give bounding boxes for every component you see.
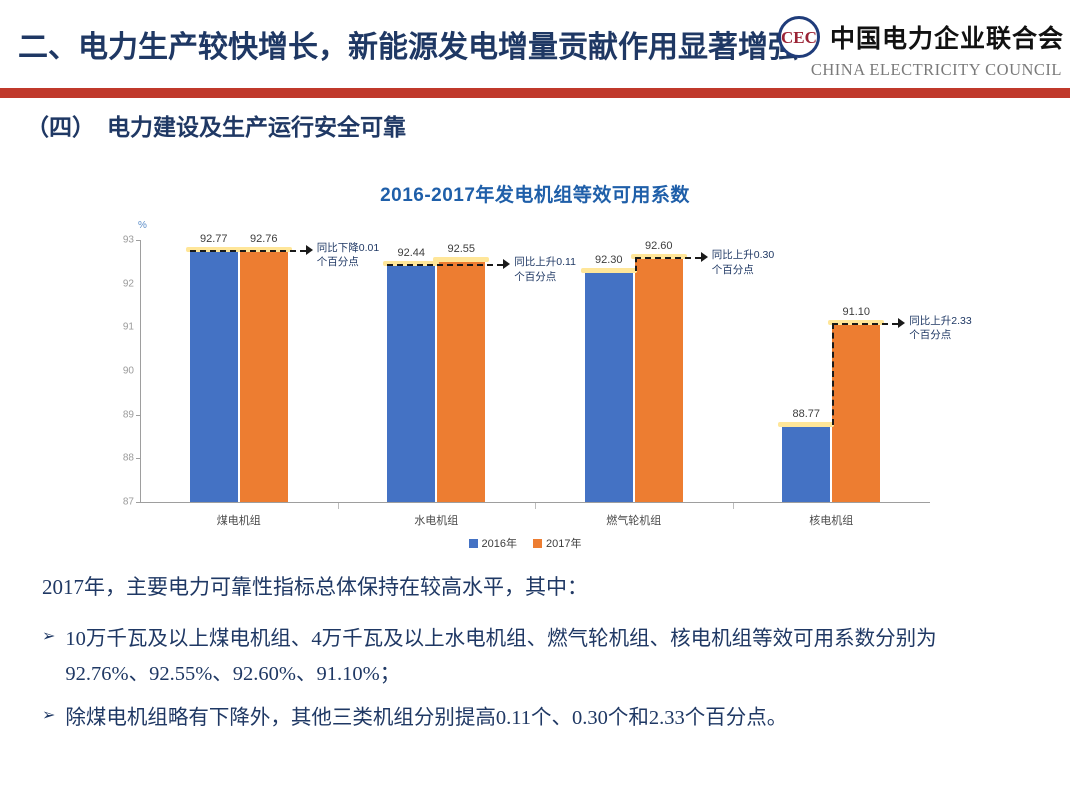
section-heading: （四）电力建设及生产运行安全可靠: [26, 108, 406, 142]
bar-top-highlight: [778, 422, 834, 427]
annotation-riser: [832, 323, 834, 425]
bar-value-label: 91.10: [842, 306, 870, 318]
category-label: 煤电机组: [217, 512, 261, 528]
bullet-marker-icon: ➢: [42, 622, 55, 652]
annotation-arrow-icon: [701, 252, 708, 262]
body-text-block: 2017年，主要电力可靠性指标总体保持在较高水平，其中： ➢10万千瓦及以上煤电…: [42, 572, 1002, 745]
bullet-item: ➢除煤电机组略有下降外，其他三类机组分别提高0.11个、0.30个和2.33个百…: [42, 701, 1002, 737]
annotation-connector: [832, 323, 898, 325]
organization-logo: CEC 中国电力企业联合会 CHINA ELECTRICITY COUNCIL: [778, 16, 1064, 80]
annotation-connector: [387, 264, 503, 266]
legend-label: 2017年: [546, 535, 581, 551]
slide-header: 二、电力生产较快增长，新能源发电增量贡献作用显著增强 CEC 中国电力企业联合会…: [0, 0, 1070, 88]
section-title-text: 电力建设及生产运行安全可靠: [107, 114, 406, 140]
bar-value-label: 92.77: [200, 233, 228, 245]
annotation-riser: [635, 257, 637, 270]
y-axis-tick-mark: [136, 240, 140, 241]
bar-value-label: 92.44: [397, 247, 425, 259]
logo-chinese-name: 中国电力企业联合会: [830, 19, 1064, 55]
y-axis-tick-mark: [136, 415, 140, 416]
annotation-connector: [635, 257, 701, 259]
legend-label: 2016年: [482, 535, 517, 551]
cec-emblem-text: CEC: [781, 29, 817, 46]
logo-row: CEC 中国电力企业联合会: [778, 16, 1064, 58]
category-separator: [535, 503, 536, 509]
bullet-text: 10万千瓦及以上煤电机组、4万千瓦及以上水电机组、燃气轮机组、核电机组等效可用系…: [65, 622, 1002, 694]
annotation-callout: 同比上升0.11个百分点: [514, 255, 580, 283]
page-title: 二、电力生产较快增长，新能源发电增量贡献作用显著增强: [18, 22, 798, 66]
lead-paragraph: 2017年，主要电力可靠性指标总体保持在较高水平，其中：: [42, 572, 1002, 604]
bar-2017: [832, 323, 880, 502]
category-separator: [338, 503, 339, 509]
y-axis-tick-label: 89: [110, 409, 134, 420]
bar-value-label: 92.55: [447, 243, 475, 255]
bar-value-label: 92.76: [250, 233, 278, 245]
y-axis-tick-mark: [136, 458, 140, 459]
annotation-callout: 同比上升2.33个百分点: [909, 314, 975, 342]
annotation-connector: [190, 250, 306, 252]
bar-2016: [585, 271, 633, 502]
chart-legend: 2016年2017年: [110, 535, 940, 551]
y-axis-tick-label: 93: [110, 235, 134, 246]
y-axis-line: [140, 240, 141, 502]
logo-english-name: CHINA ELECTRICITY COUNCIL: [811, 60, 1062, 80]
annotation-arrow-icon: [503, 259, 510, 269]
bar-top-highlight: [581, 268, 637, 273]
bullet-marker-icon: ➢: [42, 701, 55, 731]
y-axis-tick-label: 90: [110, 366, 134, 377]
bullet-item: ➢10万千瓦及以上煤电机组、4万千瓦及以上水电机组、燃气轮机组、核电机组等效可用…: [42, 622, 1002, 694]
legend-item[interactable]: 2017年: [533, 535, 581, 551]
y-axis-tick-label: 92: [110, 278, 134, 289]
annotation-arrow-icon: [898, 318, 905, 328]
annotation-callout: 同比下降0.01个百分点: [317, 241, 383, 269]
legend-swatch-icon: [469, 539, 478, 548]
bar-2017: [437, 260, 485, 502]
bar-2016: [190, 250, 238, 502]
legend-swatch-icon: [533, 539, 542, 548]
bar-2017: [635, 257, 683, 502]
y-axis-tick-mark: [136, 502, 140, 503]
bar-2017: [240, 250, 288, 502]
category-label: 核电机组: [809, 512, 853, 528]
chart-title: 2016-2017年发电机组等效可用系数: [0, 180, 1070, 207]
category-label: 水电机组: [414, 512, 458, 528]
bar-2016: [387, 264, 435, 502]
bar-value-label: 92.30: [595, 254, 623, 266]
bar-2016: [782, 425, 830, 502]
category-separator: [733, 503, 734, 509]
legend-item[interactable]: 2016年: [469, 535, 517, 551]
bar-value-label: 92.60: [645, 240, 673, 252]
header-divider: [0, 88, 1070, 98]
bar-chart: % 93929190898887 92.7792.7692.4492.5592.…: [110, 220, 940, 560]
bar-value-label: 88.77: [792, 408, 820, 420]
cec-emblem-icon: CEC: [778, 16, 820, 58]
bar-top-highlight: [433, 257, 489, 262]
category-label: 燃气轮机组: [606, 512, 661, 528]
annotation-callout: 同比上升0.30个百分点: [712, 248, 778, 276]
section-number: （四）: [26, 114, 95, 140]
bullet-text: 除煤电机组略有下降外，其他三类机组分别提高0.11个、0.30个和2.33个百分…: [65, 701, 1002, 737]
annotation-arrow-icon: [306, 245, 313, 255]
y-axis-unit-label: %: [138, 220, 147, 231]
y-axis-tick-label: 91: [110, 322, 134, 333]
y-axis-tick-label: 88: [110, 453, 134, 464]
bullet-list: ➢10万千瓦及以上煤电机组、4万千瓦及以上水电机组、燃气轮机组、核电机组等效可用…: [42, 622, 1002, 738]
y-axis-tick-label: 87: [110, 497, 134, 508]
